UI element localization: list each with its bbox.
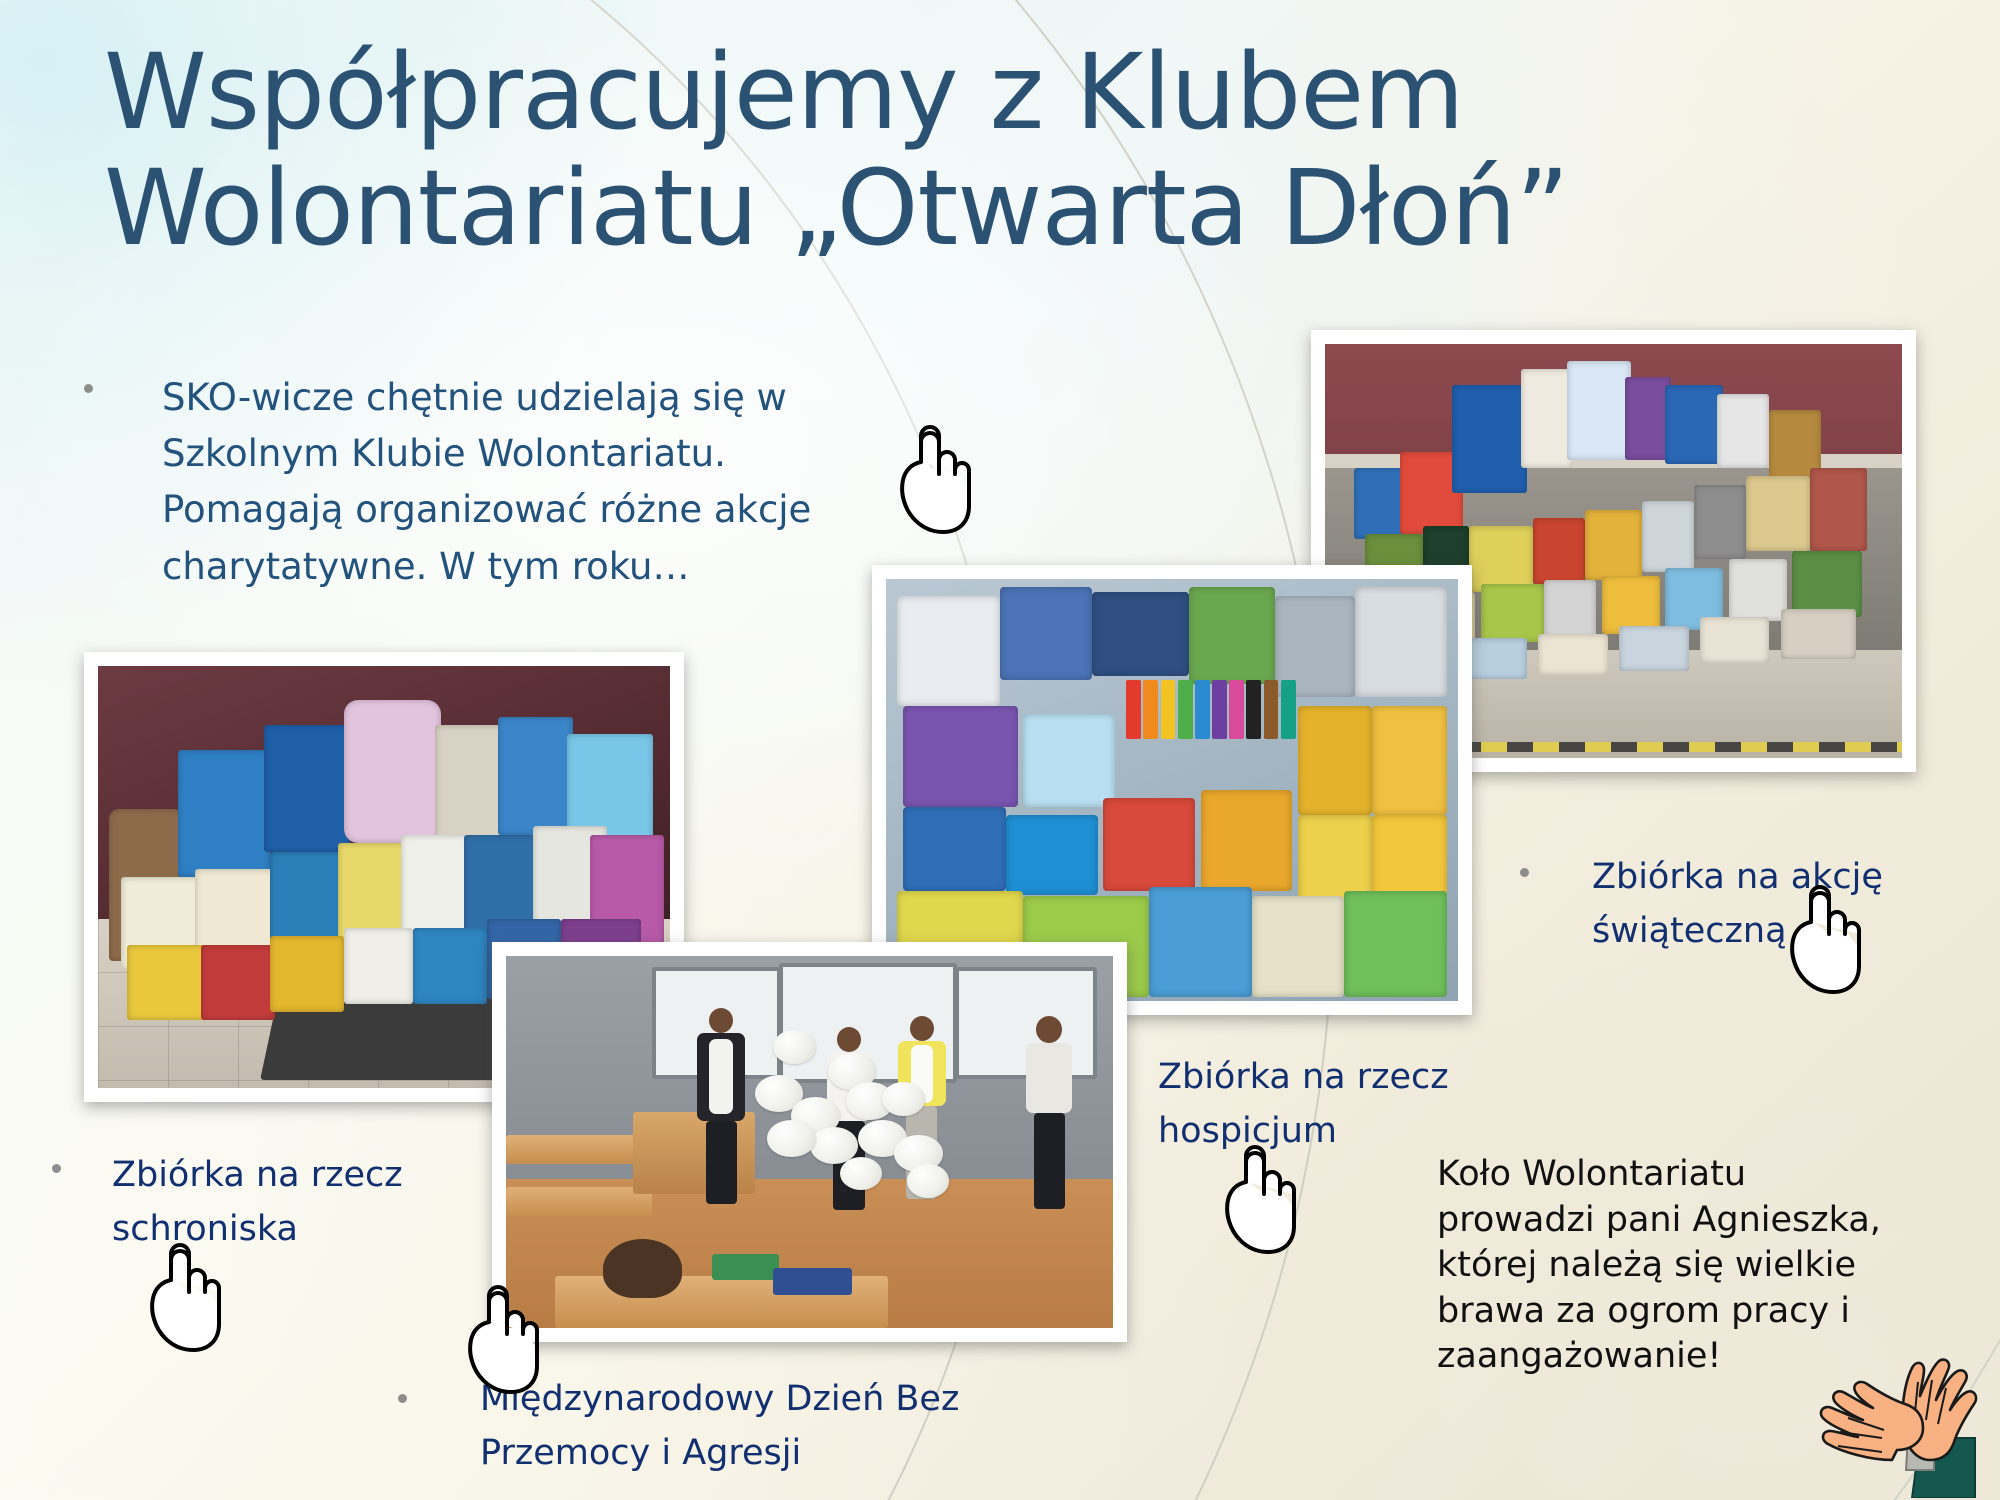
bullet-marker	[398, 1394, 407, 1403]
volunteer-club-note: Koło Wolontariatu prowadzi pani Agnieszk…	[1437, 1152, 1967, 1380]
slide-title-line-2: Wolontariatu „Otwarta Dłoń”	[104, 150, 1824, 266]
caption-hospice-line-1: Zbiórka na rzecz	[1158, 1050, 1538, 1104]
caption-peace-day-line-2: Przemocy i Agresji	[480, 1426, 1100, 1480]
note-line-4: brawa za ogrom pracy i	[1437, 1289, 1967, 1335]
caption-peace-day: Międzynarodowy Dzień Bez Przemocy i Agre…	[480, 1372, 1100, 1481]
caption-christmas: Zbiórka na akcję świąteczną	[1520, 850, 1950, 959]
slide-canvas: Współpracujemy z Klubem Wolontariatu „Ot…	[0, 0, 2000, 1500]
bullet-marker	[1520, 868, 1529, 877]
slide-title: Współpracujemy z Klubem Wolontariatu „Ot…	[104, 34, 1824, 267]
caption-shelter-line-1: Zbiórka na rzecz	[52, 1148, 482, 1202]
intro-text: SKO-wicze chętnie udzielają się w Szkoln…	[100, 370, 860, 595]
note-line-2: prowadzi pani Agnieszka,	[1437, 1198, 1967, 1244]
bullet-marker	[52, 1164, 61, 1173]
photo-peace-day-image	[506, 956, 1113, 1328]
caption-shelter: Zbiórka na rzecz schroniska	[52, 1148, 482, 1257]
bullet-marker	[84, 384, 93, 393]
caption-shelter-line-2: schroniska	[52, 1202, 482, 1256]
photo-hospice-image	[886, 579, 1458, 1001]
photo-peace-day	[492, 942, 1127, 1342]
note-line-3: której należą się wielkie	[1437, 1243, 1967, 1289]
pointing-hand-icon	[890, 420, 976, 538]
intro-bullet-block: SKO-wicze chętnie udzielają się w Szkoln…	[100, 370, 860, 595]
caption-hospice-line-2: hospicjum	[1158, 1104, 1538, 1158]
caption-christmas-line-2: świąteczną	[1520, 904, 1950, 958]
clapping-hands-icon	[1800, 1348, 1980, 1500]
caption-peace-day-line-1: Międzynarodowy Dzień Bez	[480, 1372, 1100, 1426]
caption-hospice: Zbiórka na rzecz hospicjum	[1158, 1050, 1538, 1159]
slide-title-line-1: Współpracujemy z Klubem	[104, 31, 1464, 153]
caption-christmas-line-1: Zbiórka na akcję	[1520, 850, 1950, 904]
note-line-1: Koło Wolontariatu	[1437, 1152, 1967, 1198]
